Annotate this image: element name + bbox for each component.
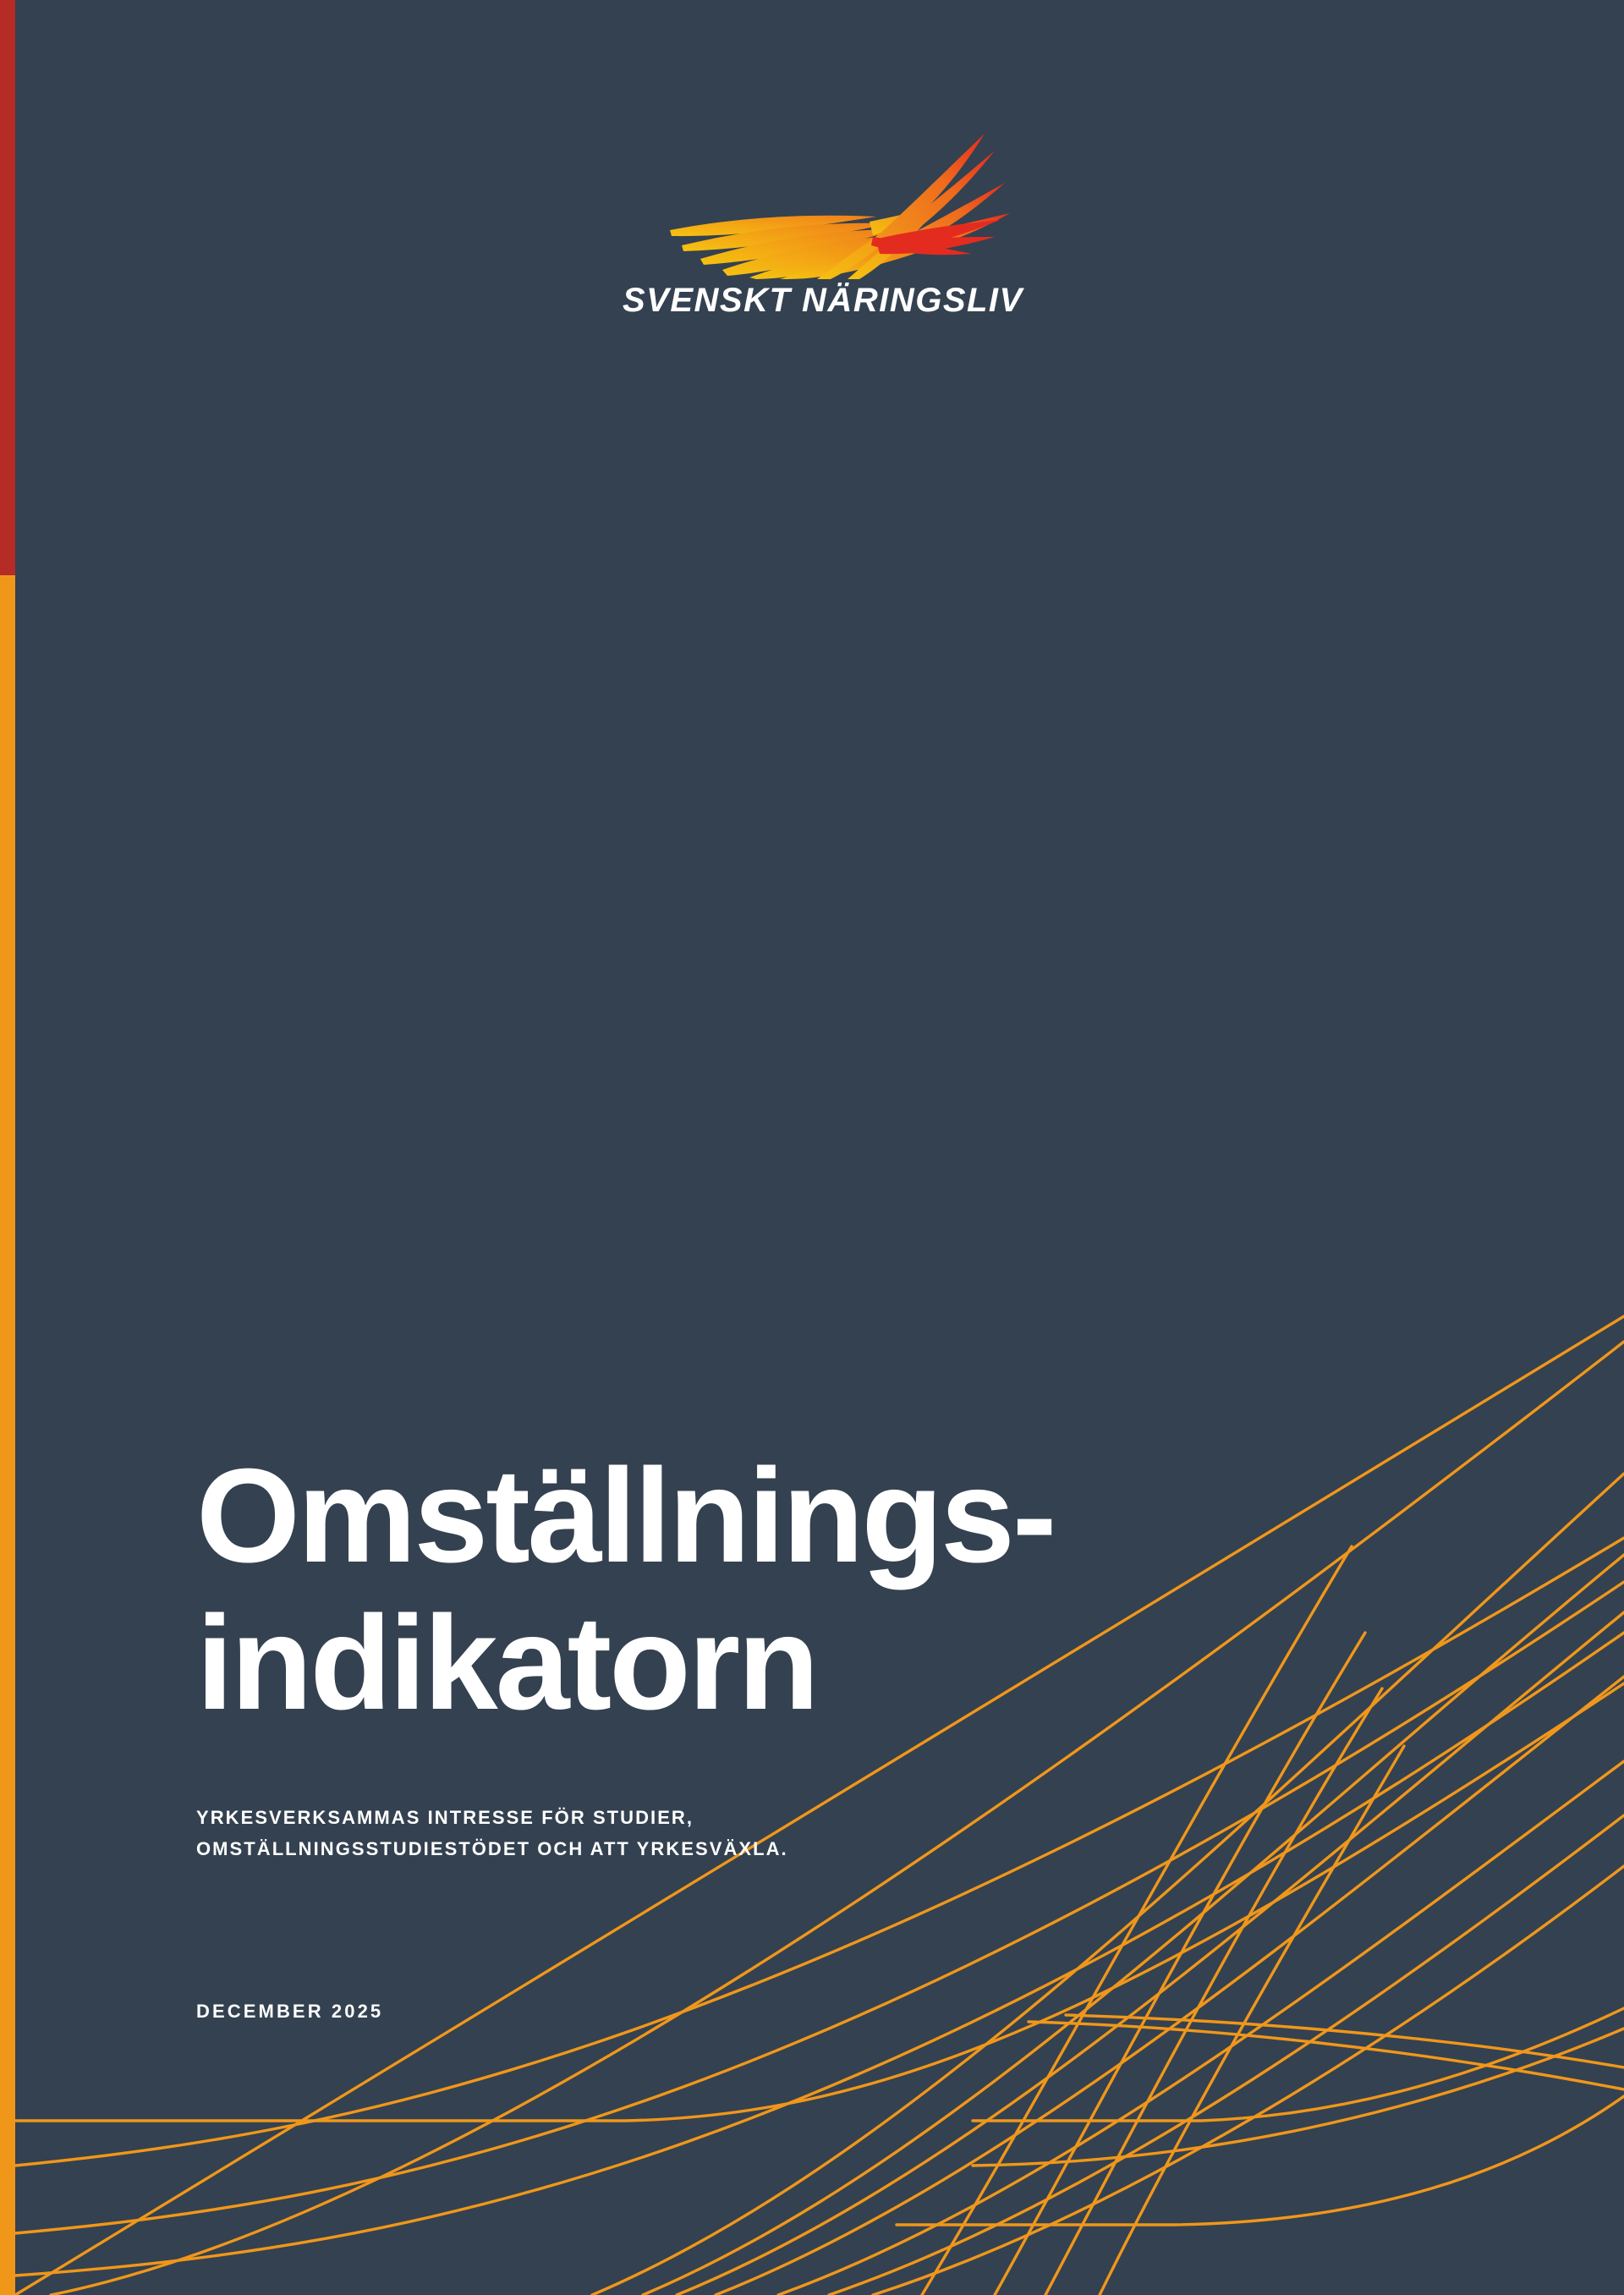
edge-stripe <box>0 0 15 2295</box>
logo-wordmark: SVENSKT NÄRINGSLIV <box>623 283 1020 318</box>
publication-date: DECEMBER 2025 <box>196 1865 1211 2023</box>
page-subtitle-line-2: OMSTÄLLNINGSSTUDIESTÖDET OCH ATT YRKESVÄ… <box>196 1833 1211 1865</box>
page-title-line-2: indikatorn <box>196 1590 1211 1738</box>
page-title-line-1: Omställnings- <box>196 1443 1211 1590</box>
page-subtitle: YRKESVERKSAMMAS INTRESSE FÖR STUDIER, OM… <box>196 1738 1211 1866</box>
edge-stripe-orange-segment <box>0 575 15 2295</box>
cover-page: SVENSKT NÄRINGSLIV Omställnings- indikat… <box>0 0 1624 2295</box>
svenskt-naringsliv-wing-icon <box>623 118 1020 279</box>
edge-stripe-red-segment <box>0 0 15 575</box>
logo: SVENSKT NÄRINGSLIV <box>623 118 1020 318</box>
cover-text-block: Omställnings- indikatorn YRKESVERKSAMMAS… <box>196 1443 1211 2023</box>
page-subtitle-line-1: YRKESVERKSAMMAS INTRESSE FÖR STUDIER, <box>196 1802 1211 1834</box>
page-title: Omställnings- indikatorn <box>196 1443 1211 1738</box>
